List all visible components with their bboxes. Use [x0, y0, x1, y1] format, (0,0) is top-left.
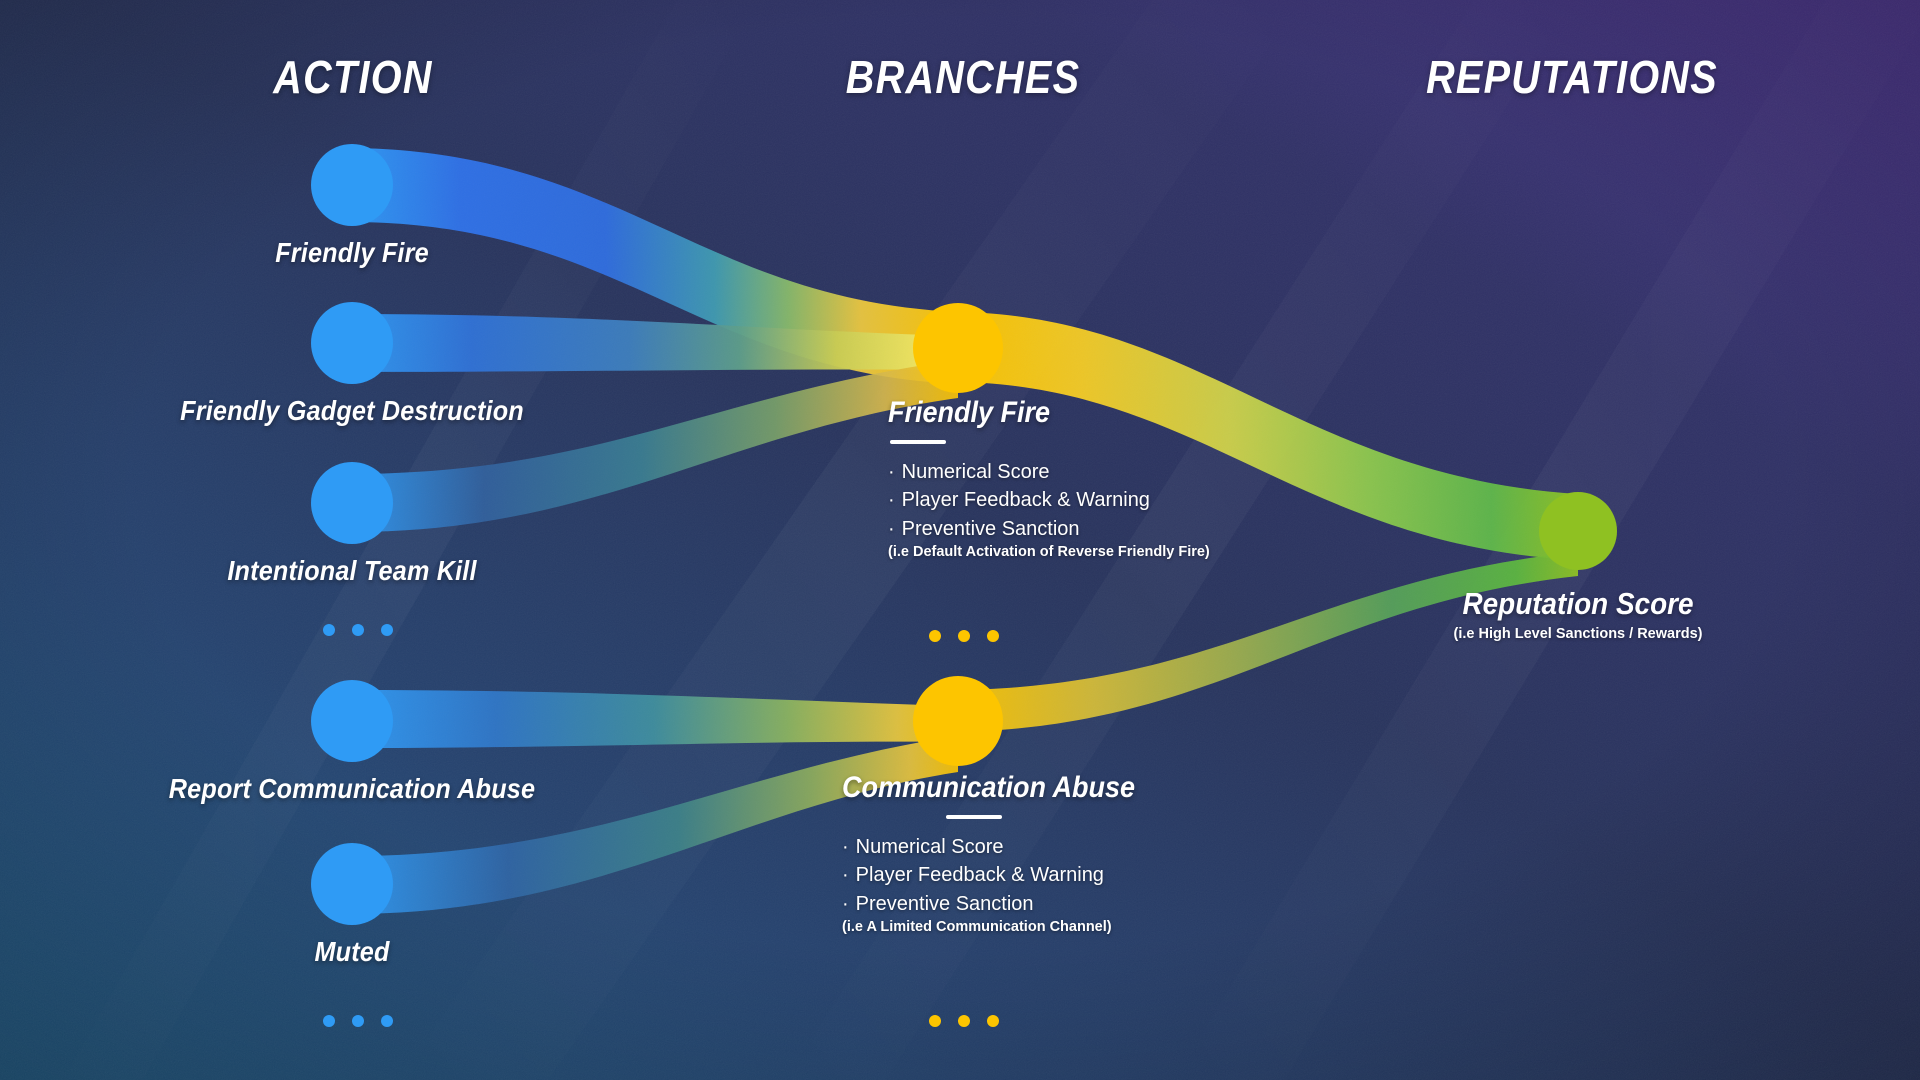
bullet-text: Player Feedback & Warning: [856, 864, 1104, 886]
branch-bullet-list-friendly-fire: ·Numerical Score ·Player Feedback & Warn…: [888, 458, 1210, 543]
bullet-dot-icon: ·: [888, 489, 895, 511]
bullet-dot-icon: ·: [842, 836, 849, 858]
branch-node-communication-abuse[interactable]: [913, 676, 1003, 766]
action-node-report-communication-abuse[interactable]: [311, 680, 393, 762]
branch-bullet-item: ·Numerical Score: [842, 833, 1168, 861]
branch-detail-friendly-fire: Friendly Fire ·Numerical Score ·Player F…: [888, 396, 1210, 560]
branch-divider: [890, 440, 946, 444]
reputation-label-block: Reputation Score (i.e High Level Sanctio…: [1278, 586, 1878, 642]
column-header-branches: BRANCHES: [791, 50, 1135, 104]
action-node-intentional-team-kill[interactable]: [311, 462, 393, 544]
ellipsis-dot: [381, 1015, 393, 1027]
ellipsis-dot: [352, 1015, 364, 1027]
branch-bullet-item: ·Preventive Sanction: [842, 890, 1168, 918]
ellipsis-dot: [323, 1015, 335, 1027]
ellipsis-dot: [987, 630, 999, 642]
branch-divider: [946, 815, 1002, 819]
ellipsis-dot: [958, 630, 970, 642]
bullet-text: Preventive Sanction: [902, 518, 1080, 540]
action-node-friendly-gadget-destruction[interactable]: [311, 302, 393, 384]
column-header-action: ACTION: [181, 50, 525, 104]
bullet-text: Numerical Score: [856, 836, 1004, 858]
branch-note-communication-abuse: (i.e A Limited Communication Channel): [842, 919, 1168, 935]
action-label-muted: Muted: [82, 936, 622, 968]
bullet-text: Player Feedback & Warning: [902, 489, 1150, 511]
action-node-friendly-fire[interactable]: [311, 144, 393, 226]
reputation-note: (i.e High Level Sanctions / Rewards): [1278, 626, 1878, 642]
bullet-dot-icon: ·: [888, 461, 895, 483]
ellipsis-dot: [323, 624, 335, 636]
reputation-title: Reputation Score: [1308, 586, 1848, 622]
ellipsis-dot: [987, 1015, 999, 1027]
branch-title-friendly-fire: Friendly Fire: [888, 396, 1178, 430]
infographic-canvas: ACTION BRANCHES REPUTATIONS Friendly Fir…: [0, 0, 1920, 1080]
action-node-muted[interactable]: [311, 843, 393, 925]
branch-bullet-item: ·Player Feedback & Warning: [842, 861, 1168, 889]
bullet-dot-icon: ·: [842, 864, 849, 886]
branch-ellipsis-lower: [929, 1015, 999, 1027]
bullet-dot-icon: ·: [842, 893, 849, 915]
bullet-text: Numerical Score: [902, 461, 1050, 483]
column-header-reputations: REPUTATIONS: [1400, 50, 1744, 104]
bullet-text: Preventive Sanction: [856, 893, 1034, 915]
branch-detail-communication-abuse: Communication Abuse ·Numerical Score ·Pl…: [842, 771, 1168, 935]
ellipsis-dot: [381, 624, 393, 636]
bullet-dot-icon: ·: [888, 518, 895, 540]
ellipsis-dot: [958, 1015, 970, 1027]
action-label-friendly-fire: Friendly Fire: [82, 237, 622, 269]
action-label-friendly-gadget-destruction: Friendly Gadget Destruction: [82, 395, 622, 427]
branch-ellipsis-upper: [929, 630, 999, 642]
branch-bullet-list-communication-abuse: ·Numerical Score ·Player Feedback & Warn…: [842, 833, 1168, 918]
ellipsis-dot: [929, 630, 941, 642]
action-label-report-communication-abuse: Report Communication Abuse: [82, 773, 622, 805]
ellipsis-dot: [929, 1015, 941, 1027]
branch-note-friendly-fire: (i.e Default Activation of Reverse Frien…: [888, 544, 1210, 560]
reputation-node-reputation-score[interactable]: [1539, 492, 1617, 570]
ellipsis-dot: [352, 624, 364, 636]
branch-title-communication-abuse: Communication Abuse: [842, 771, 1135, 805]
branch-node-friendly-fire[interactable]: [913, 303, 1003, 393]
branch-bullet-item: ·Preventive Sanction: [888, 515, 1210, 543]
action-ellipsis-lower: [323, 1015, 393, 1027]
action-ellipsis-upper: [323, 624, 393, 636]
branch-bullet-item: ·Numerical Score: [888, 458, 1210, 486]
action-label-intentional-team-kill: Intentional Team Kill: [82, 555, 622, 587]
branch-bullet-item: ·Player Feedback & Warning: [888, 486, 1210, 514]
